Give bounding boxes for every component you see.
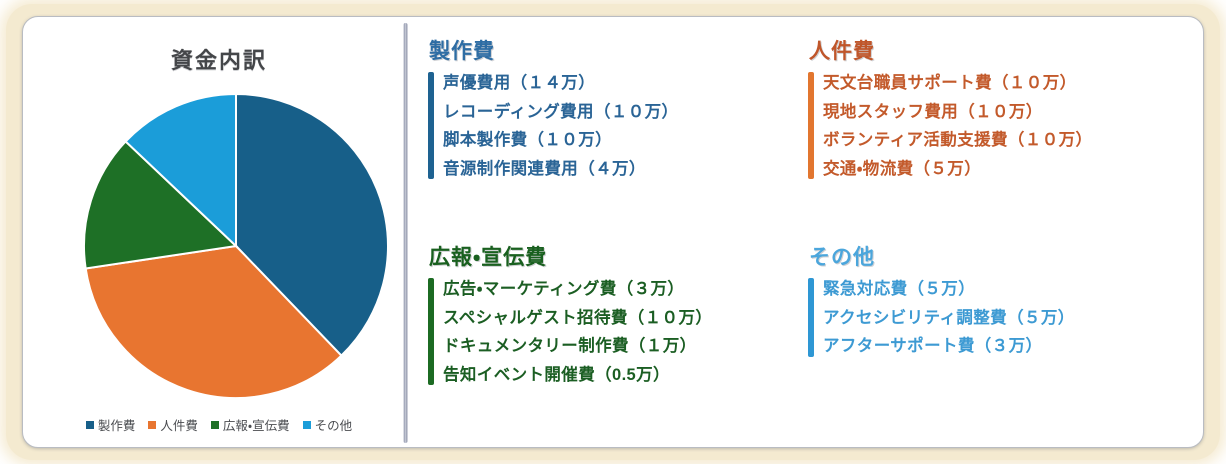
pie-slice-group xyxy=(84,94,388,398)
block-pr-title: 広報・宣伝費 xyxy=(429,241,805,271)
list-item: 天文台職員サポート費（１０万） xyxy=(821,69,1203,98)
list-item: 脚本製作費（１０万） xyxy=(441,126,805,155)
block-labor: 人件費 天文台職員サポート費（１０万）現地スタッフ費用（１０万）ボランティア活動… xyxy=(805,35,1203,183)
legend-item: その他 xyxy=(303,415,353,434)
legend-label: その他 xyxy=(315,415,353,434)
legend-item: 製作費 xyxy=(86,415,136,434)
list-item: ボランティア活動支援費（１０万） xyxy=(821,126,1203,155)
block-labor-list: 天文台職員サポート費（１０万）現地スタッフ費用（１０万）ボランティア活動支援費（… xyxy=(805,69,1203,183)
list-item: 声優費用（１４万） xyxy=(441,69,805,98)
legend-swatch xyxy=(86,421,94,429)
pie-chart-panel: 資金内訳 製作費人件費広報・宣伝費その他 xyxy=(33,19,405,447)
block-other-items: 緊急対応費（５万）アクセシビリティ調整費（５万）アフターサポート費（３万） xyxy=(821,275,1203,361)
funding-breakdown-infographic: 資金内訳 製作費人件費広報・宣伝費その他 製作費 声優費用（１４万）レコーディン… xyxy=(0,0,1226,464)
chart-title: 資金内訳 xyxy=(33,43,405,75)
block-other-list: 緊急対応費（５万）アクセシビリティ調整費（５万）アフターサポート費（３万） xyxy=(805,275,1203,361)
pie-chart xyxy=(81,91,401,401)
block-labor-title: 人件費 xyxy=(809,35,1203,65)
block-production-items: 声優費用（１４万）レコーディング費用（１０万）脚本製作費（１０万）音源制作関連費… xyxy=(441,69,805,183)
chart-legend: 製作費人件費広報・宣伝費その他 xyxy=(33,415,405,434)
legend-label: 製作費 xyxy=(98,415,136,434)
category-blocks: 製作費 声優費用（１４万）レコーディング費用（１０万）脚本製作費（１０万）音源制… xyxy=(421,17,1203,448)
legend-label: 人件費 xyxy=(160,415,198,434)
accent-bar-other xyxy=(808,278,814,357)
block-pr: 広報・宣伝費 広告・マーケティング費（３万）スペシャルゲスト招待費（１０万）ドキ… xyxy=(425,241,805,389)
block-production-title: 製作費 xyxy=(429,35,805,65)
legend-item: 人件費 xyxy=(148,415,198,434)
vertical-divider xyxy=(403,23,408,443)
list-item: 現地スタッフ費用（１０万） xyxy=(821,98,1203,127)
list-item: 音源制作関連費用（４万） xyxy=(441,155,805,184)
list-item: 緊急対応費（５万） xyxy=(821,275,1203,304)
block-pr-items: 広告・マーケティング費（３万）スペシャルゲスト招待費（１０万）ドキュメンタリー制… xyxy=(441,275,805,389)
list-item: 告知イベント開催費（0.5万） xyxy=(441,361,805,390)
accent-bar-labor xyxy=(808,72,814,179)
list-item: アクセシビリティ調整費（５万） xyxy=(821,304,1203,333)
list-item: レコーディング費用（１０万） xyxy=(441,98,805,127)
block-production-list: 声優費用（１４万）レコーディング費用（１０万）脚本製作費（１０万）音源制作関連費… xyxy=(425,69,805,183)
legend-swatch xyxy=(303,421,311,429)
list-item: 交通・物流費（５万） xyxy=(821,155,1203,184)
content-card: 資金内訳 製作費人件費広報・宣伝費その他 製作費 声優費用（１４万）レコーディン… xyxy=(22,16,1204,448)
block-production: 製作費 声優費用（１４万）レコーディング費用（１０万）脚本製作費（１０万）音源制… xyxy=(425,35,805,183)
block-other-title: その他 xyxy=(809,241,1203,271)
legend-item: 広報・宣伝費 xyxy=(211,415,290,434)
list-item: アフターサポート費（３万） xyxy=(821,332,1203,361)
legend-label: 広報・宣伝費 xyxy=(223,415,290,434)
list-item: 広告・マーケティング費（３万） xyxy=(441,275,805,304)
list-item: ドキュメンタリー制作費（１万） xyxy=(441,332,805,361)
block-labor-items: 天文台職員サポート費（１０万）現地スタッフ費用（１０万）ボランティア活動支援費（… xyxy=(821,69,1203,183)
accent-bar-pr xyxy=(428,278,434,385)
block-other: その他 緊急対応費（５万）アクセシビリティ調整費（５万）アフターサポート費（３万… xyxy=(805,241,1203,361)
block-pr-list: 広告・マーケティング費（３万）スペシャルゲスト招待費（１０万）ドキュメンタリー制… xyxy=(425,275,805,389)
list-item: スペシャルゲスト招待費（１０万） xyxy=(441,304,805,333)
legend-swatch xyxy=(211,421,219,429)
pie-chart-svg xyxy=(81,91,401,401)
accent-bar-production xyxy=(428,72,434,179)
legend-swatch xyxy=(148,421,156,429)
